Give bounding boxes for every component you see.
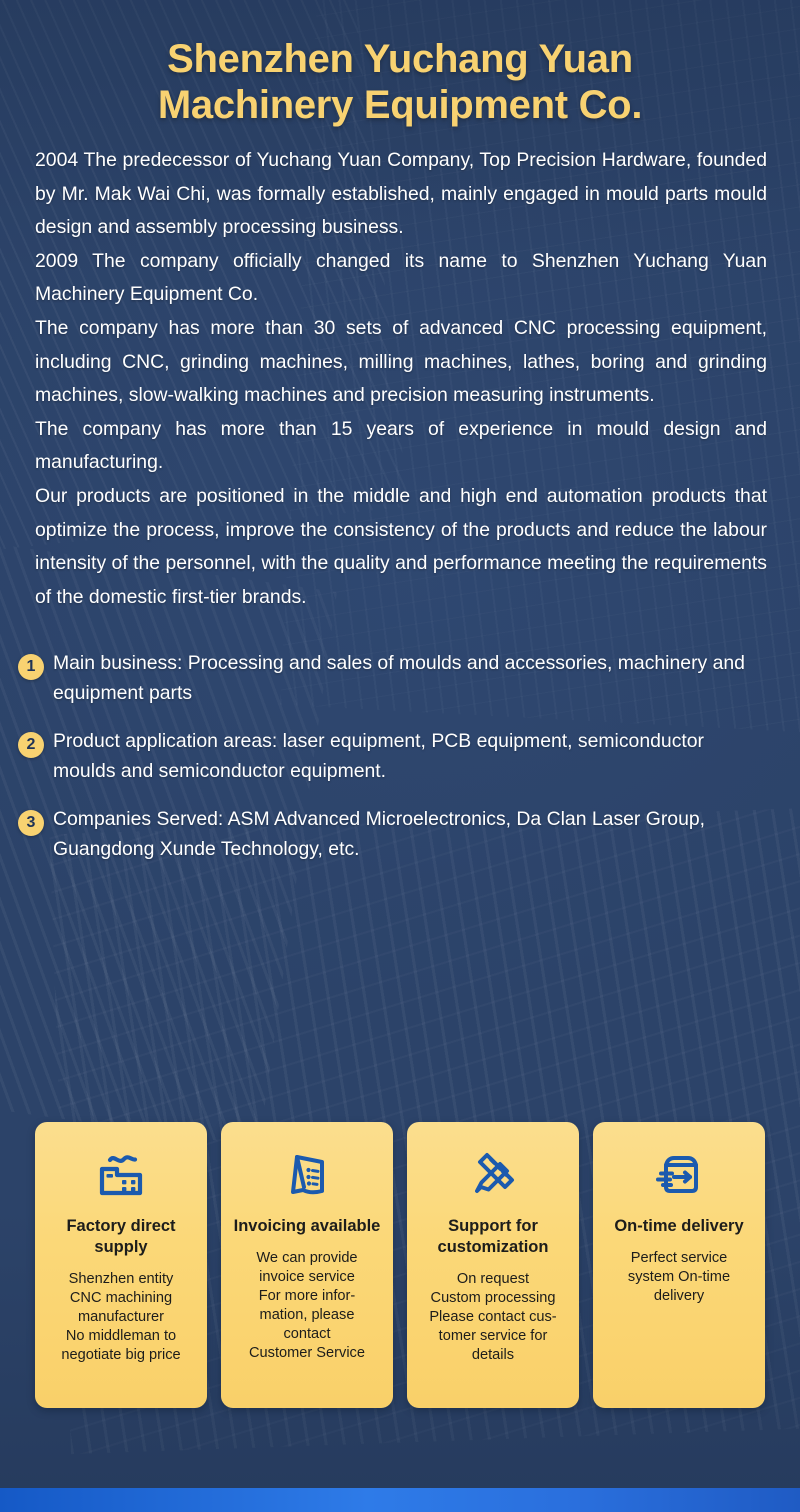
footer-accent-bar [0, 1488, 800, 1512]
point-badge-2: 2 [18, 732, 44, 758]
feature-card-factory-direct-supply[interactable]: Factory direct supply Shenzhen entity CN… [35, 1122, 207, 1408]
point-text-1: Main business: Processing and sales of m… [53, 648, 770, 708]
point-text-3: Companies Served: ASM Advanced Microelec… [53, 804, 770, 864]
poster-content: Shenzhen Yuchang Yuan Machinery Equipmen… [0, 0, 800, 1512]
card-title: Support for customization [416, 1216, 570, 1258]
page-title: Shenzhen Yuchang Yuan Machinery Equipmen… [0, 0, 800, 128]
shipping-box-arrow-icon [652, 1146, 706, 1202]
key-points-list: 1 Main business: Processing and sales of… [0, 614, 800, 864]
list-item: 1 Main business: Processing and sales of… [18, 648, 770, 708]
list-item: 2 Product application areas: laser equip… [18, 726, 770, 786]
title-line-2: Machinery Equipment Co. [26, 82, 774, 128]
paragraph-2004: 2004 The predecessor of Yuchang Yuan Com… [35, 144, 767, 245]
feature-card-invoicing-available[interactable]: Invoicing available We can provide invoi… [221, 1122, 393, 1408]
title-line-1: Shenzhen Yuchang Yuan [26, 36, 774, 82]
paragraph-experience: The company has more than 15 years of ex… [35, 413, 767, 480]
card-description: On request Custom processing Please cont… [429, 1270, 556, 1365]
paragraph-2009: 2009 The company officially changed its … [35, 245, 767, 312]
feature-cards: Factory direct supply Shenzhen entity CN… [35, 1122, 765, 1408]
card-title: Invoicing available [234, 1216, 381, 1237]
factory-icon [94, 1146, 148, 1202]
feature-card-on-time-delivery[interactable]: On-time delivery Perfect service system … [593, 1122, 765, 1408]
company-description: 2004 The predecessor of Yuchang Yuan Com… [0, 128, 800, 614]
feature-card-support-for-customization[interactable]: Support for customization On request Cus… [407, 1122, 579, 1408]
invoice-document-icon [281, 1146, 333, 1202]
point-text-2: Product application areas: laser equipme… [53, 726, 770, 786]
paragraph-products: Our products are positioned in the middl… [35, 480, 767, 614]
card-title: On-time delivery [614, 1216, 743, 1237]
card-description: Perfect service system On-time delivery [628, 1249, 730, 1306]
card-description: Shenzhen entity CNC machining manufactur… [61, 1270, 180, 1365]
card-description: We can provide invoice service For more … [249, 1249, 365, 1363]
point-badge-1: 1 [18, 654, 44, 680]
point-badge-3: 3 [18, 810, 44, 836]
pencil-ruler-icon [467, 1146, 519, 1202]
paragraph-equipment: The company has more than 30 sets of adv… [35, 312, 767, 413]
card-title: Factory direct supply [44, 1216, 198, 1258]
list-item: 3 Companies Served: ASM Advanced Microel… [18, 804, 770, 864]
